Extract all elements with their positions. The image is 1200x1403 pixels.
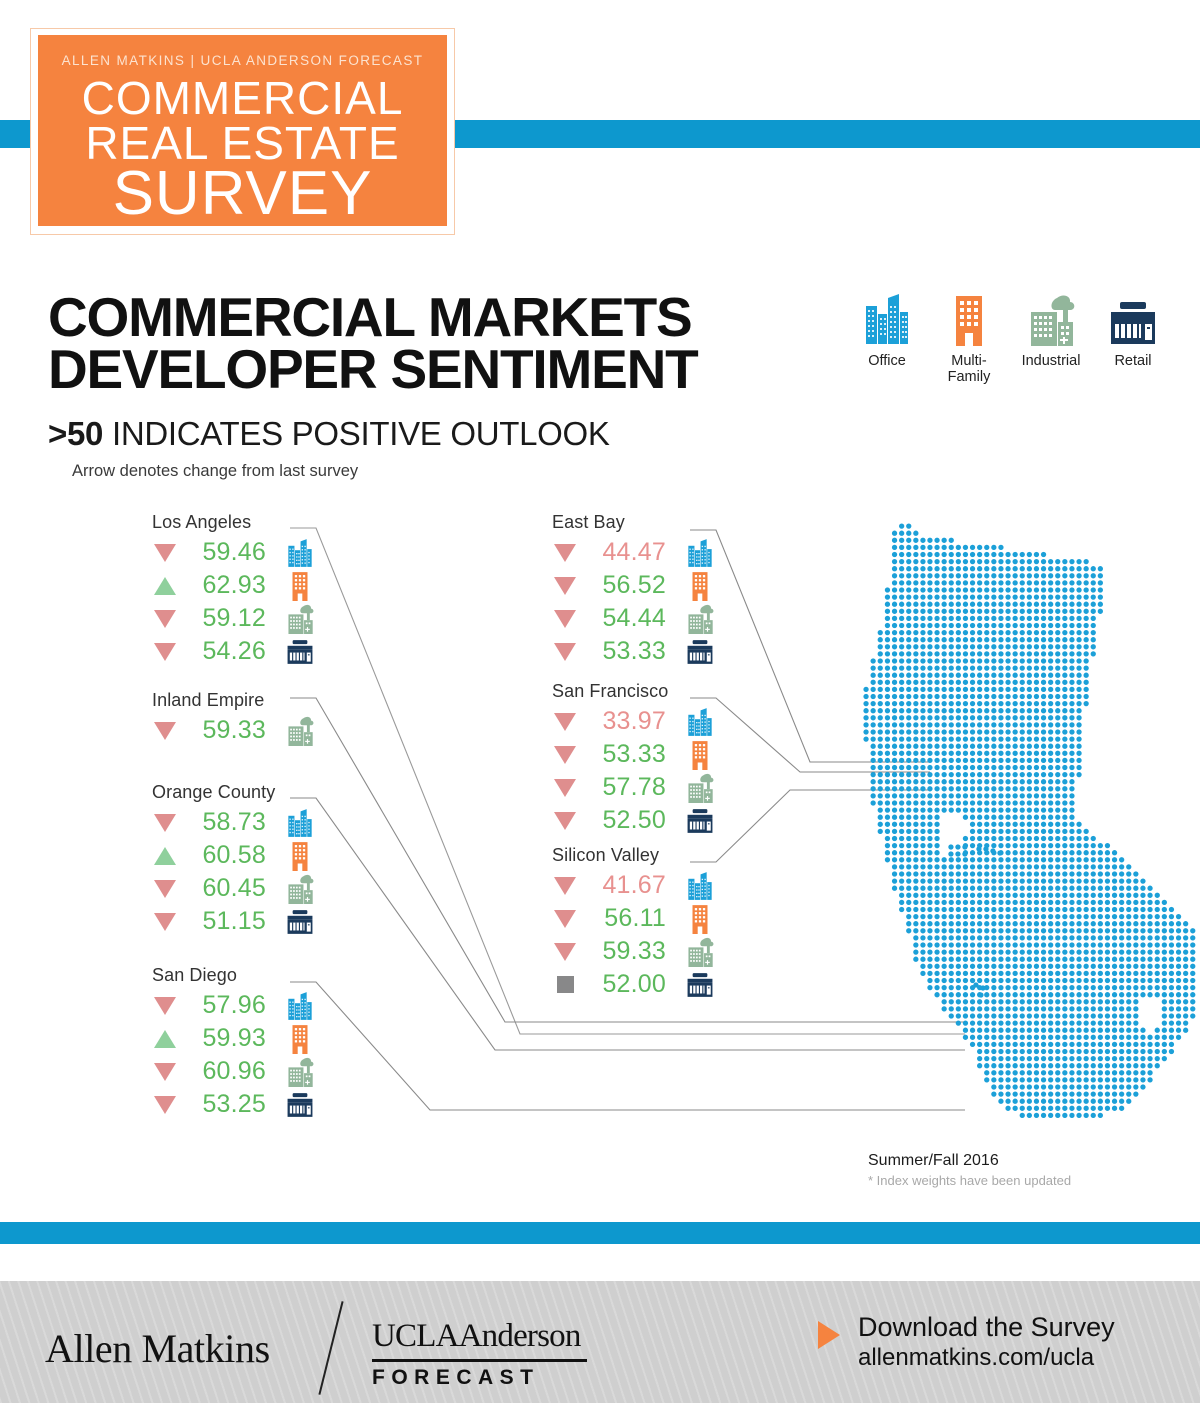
trend-marker xyxy=(154,913,176,931)
region-name: San Diego xyxy=(152,965,323,986)
legend-item-multifamily: Multi- Family xyxy=(928,288,1010,385)
trend-down-arrow-icon xyxy=(552,812,578,830)
sentiment-row: 54.26 xyxy=(152,635,323,668)
sentiment-row: 52.00 xyxy=(552,968,723,1001)
sentiment-row: 54.44 xyxy=(552,602,723,635)
retail-store-icon xyxy=(266,639,323,665)
sentiment-value: 58.73 xyxy=(178,808,266,837)
sentiment-row: 57.78 xyxy=(552,771,723,804)
trend-down-arrow-icon xyxy=(152,1063,178,1081)
industrial-factory-icon xyxy=(666,604,723,634)
trend-marker xyxy=(554,643,576,661)
trend-down-arrow-icon xyxy=(152,814,178,832)
trend-down-arrow-icon xyxy=(152,1096,178,1114)
trend-marker xyxy=(554,577,576,595)
region-block-san-francisco: San Francisco 33.9753.3357.7852.50 xyxy=(552,681,723,837)
sentiment-value: 57.96 xyxy=(178,991,266,1020)
trend-marker xyxy=(554,713,576,731)
ucla-anderson-forecast-logo[interactable]: UCLAAnderson FORECAST xyxy=(372,1318,587,1390)
trend-marker xyxy=(154,643,176,661)
office-building-icon xyxy=(666,538,723,568)
sentiment-row: 59.33 xyxy=(152,714,323,747)
survey-period: Summer/Fall 2016 xyxy=(868,1152,1071,1170)
region-block-orange-county: Orange County 58.7360.5860.4551.15 xyxy=(152,782,323,938)
sentiment-value: 53.25 xyxy=(178,1090,266,1119)
sector-legend: Office Multi- Family xyxy=(846,288,1176,398)
office-building-icon xyxy=(266,538,323,568)
sentiment-value: 59.46 xyxy=(178,538,266,567)
trend-marker xyxy=(154,722,176,740)
download-label: Download the Survey xyxy=(858,1312,1115,1344)
page-title: COMMERCIAL MARKETS DEVELOPER SENTIMENT >… xyxy=(48,292,848,481)
retail-store-icon xyxy=(666,639,723,665)
multifamily-building-icon xyxy=(928,288,1010,346)
trend-down-arrow-icon xyxy=(152,913,178,931)
sentiment-row: 33.97 xyxy=(552,705,723,738)
legend-label-multifamily-l2: Family xyxy=(928,369,1010,385)
multifamily-building-icon xyxy=(666,740,723,770)
sentiment-row: 59.33 xyxy=(552,935,723,968)
trend-marker xyxy=(154,1096,176,1114)
trend-marker xyxy=(154,880,176,898)
trend-marker xyxy=(154,1063,176,1081)
region-name: East Bay xyxy=(552,512,723,533)
sentiment-value: 52.00 xyxy=(578,970,666,999)
retail-store-icon xyxy=(266,1092,323,1118)
sentiment-value: 54.44 xyxy=(578,604,666,633)
multifamily-building-icon xyxy=(266,841,323,871)
ucla-rule xyxy=(372,1359,587,1362)
trend-down-arrow-icon xyxy=(552,610,578,628)
sentiment-row: 53.25 xyxy=(152,1088,323,1121)
trend-marker xyxy=(554,610,576,628)
trend-down-arrow-icon xyxy=(152,997,178,1015)
download-url: allenmatkins.com/ucla xyxy=(858,1344,1115,1372)
multifamily-building-icon xyxy=(266,571,323,601)
trend-down-arrow-icon xyxy=(152,643,178,661)
region-block-los-angeles: Los Angeles 59.4662.9359.1254.26 xyxy=(152,512,323,668)
trend-up-arrow-icon xyxy=(152,847,178,865)
industrial-factory-icon xyxy=(666,937,723,967)
sentiment-value: 44.47 xyxy=(578,538,666,567)
sentiment-row: 53.33 xyxy=(552,635,723,668)
sentiment-value: 33.97 xyxy=(578,707,666,736)
date-note: Summer/Fall 2016 * Index weights have be… xyxy=(868,1152,1071,1188)
logo-kicker: ALLEN MATKINS | UCLA ANDERSON FORECAST xyxy=(38,53,447,68)
sentiment-value: 59.93 xyxy=(178,1024,266,1053)
industrial-factory-icon xyxy=(666,773,723,803)
region-name: Los Angeles xyxy=(152,512,323,533)
california-dot-map xyxy=(855,515,1200,1125)
sentiment-row: 60.96 xyxy=(152,1055,323,1088)
office-building-icon xyxy=(846,288,928,346)
trend-down-arrow-icon xyxy=(552,544,578,562)
survey-footnote: * Index weights have been updated xyxy=(868,1173,1071,1188)
ucla-anderson-text: UCLAAnderson xyxy=(372,1318,587,1355)
sentiment-value: 53.33 xyxy=(578,637,666,666)
region-block-san-diego: San Diego 57.9659.9360.9653.25 xyxy=(152,965,323,1121)
sentiment-row: 60.58 xyxy=(152,839,323,872)
trend-marker xyxy=(554,746,576,764)
sentiment-row: 51.15 xyxy=(152,905,323,938)
trend-marker xyxy=(554,779,576,797)
sentiment-value: 41.67 xyxy=(578,871,666,900)
retail-store-icon xyxy=(1092,288,1174,346)
footer-blue-rule xyxy=(0,1222,1200,1244)
forecast-text: FORECAST xyxy=(372,1366,587,1390)
sentiment-value: 60.58 xyxy=(178,841,266,870)
california-dots xyxy=(863,523,1195,1118)
multifamily-building-icon xyxy=(666,904,723,934)
trend-down-arrow-icon xyxy=(152,544,178,562)
region-name: Inland Empire xyxy=(152,690,323,711)
office-building-icon xyxy=(266,991,323,1021)
trend-marker xyxy=(554,943,576,961)
industrial-factory-icon xyxy=(266,716,323,746)
trend-up-arrow-icon xyxy=(152,1030,178,1048)
trend-down-arrow-icon xyxy=(152,722,178,740)
trend-marker xyxy=(554,812,576,830)
title-line-2: DEVELOPER SENTIMENT xyxy=(48,344,848,396)
trend-marker xyxy=(557,976,574,993)
region-name: Silicon Valley xyxy=(552,845,723,866)
sentiment-row: 58.73 xyxy=(152,806,323,839)
sentiment-value: 59.12 xyxy=(178,604,266,633)
trend-marker xyxy=(154,610,176,628)
sentiment-value: 56.52 xyxy=(578,571,666,600)
region-block-silicon-valley: Silicon Valley 41.6756.1159.3352.00 xyxy=(552,845,723,1001)
trend-marker xyxy=(554,877,576,895)
industrial-factory-icon xyxy=(266,874,323,904)
trend-marker xyxy=(154,814,176,832)
retail-store-icon xyxy=(266,909,323,935)
region-block-inland-empire: Inland Empire 59.33 xyxy=(152,690,323,747)
trend-down-arrow-icon xyxy=(152,610,178,628)
region-name: San Francisco xyxy=(552,681,723,702)
trend-down-arrow-icon xyxy=(552,577,578,595)
trend-down-arrow-icon xyxy=(152,880,178,898)
sentiment-value: 52.50 xyxy=(578,806,666,835)
sentiment-value: 62.93 xyxy=(178,571,266,600)
sentiment-row: 53.33 xyxy=(552,738,723,771)
trend-marker xyxy=(154,544,176,562)
trend-marker xyxy=(154,1030,176,1048)
trend-down-arrow-icon xyxy=(552,643,578,661)
trend-marker xyxy=(554,544,576,562)
survey-logo-box: ALLEN MATKINS | UCLA ANDERSON FORECAST C… xyxy=(38,35,447,226)
legend-label-retail: Retail xyxy=(1092,353,1174,369)
trend-down-arrow-icon xyxy=(552,943,578,961)
region-name: Orange County xyxy=(152,782,323,803)
office-building-icon xyxy=(266,808,323,838)
office-building-icon xyxy=(666,707,723,737)
trend-down-arrow-icon xyxy=(552,877,578,895)
subtitle-threshold: >50 xyxy=(48,415,103,452)
sentiment-row: 57.96 xyxy=(152,989,323,1022)
sentiment-row: 41.67 xyxy=(552,869,723,902)
sentiment-value: 57.78 xyxy=(578,773,666,802)
legend-item-retail: Retail xyxy=(1092,288,1174,369)
legend-item-industrial: Industrial xyxy=(1010,288,1092,369)
sentiment-row: 60.45 xyxy=(152,872,323,905)
sentiment-row: 44.47 xyxy=(552,536,723,569)
sentiment-row: 59.46 xyxy=(152,536,323,569)
retail-store-icon xyxy=(666,972,723,998)
logo-line-1: COMMERCIAL xyxy=(38,75,447,121)
trend-down-arrow-icon xyxy=(552,910,578,928)
legend-item-office: Office xyxy=(846,288,928,369)
download-survey-link[interactable]: Download the Survey allenmatkins.com/ucl… xyxy=(818,1312,1115,1372)
trend-marker xyxy=(154,577,176,595)
subtitle-text: INDICATES POSITIVE OUTLOOK xyxy=(103,415,610,452)
logo-line-3: SURVEY xyxy=(38,163,447,225)
sentiment-value: 60.45 xyxy=(178,874,266,903)
trend-down-arrow-icon xyxy=(552,746,578,764)
sentiment-row: 56.11 xyxy=(552,902,723,935)
trend-up-arrow-icon xyxy=(152,577,178,595)
sentiment-value: 51.15 xyxy=(178,907,266,936)
retail-store-icon xyxy=(666,808,723,834)
sentiment-row: 56.52 xyxy=(552,569,723,602)
allen-matkins-logo[interactable]: Allen Matkins xyxy=(45,1325,270,1372)
trend-marker xyxy=(154,847,176,865)
legend-label-office: Office xyxy=(846,353,928,369)
play-triangle-icon xyxy=(818,1321,840,1349)
sentiment-row: 59.12 xyxy=(152,602,323,635)
trend-down-arrow-icon xyxy=(552,713,578,731)
multifamily-building-icon xyxy=(666,571,723,601)
sentiment-row: 52.50 xyxy=(552,804,723,837)
sentiment-value: 53.33 xyxy=(578,740,666,769)
survey-logo-frame: ALLEN MATKINS | UCLA ANDERSON FORECAST C… xyxy=(30,28,455,235)
subtitle: >50 INDICATES POSITIVE OUTLOOK xyxy=(48,415,848,453)
sentiment-value: 54.26 xyxy=(178,637,266,666)
header-band: ALLEN MATKINS | UCLA ANDERSON FORECAST C… xyxy=(0,0,1200,250)
industrial-factory-icon xyxy=(266,604,323,634)
trend-down-arrow-icon xyxy=(552,779,578,797)
office-building-icon xyxy=(666,871,723,901)
trend-marker xyxy=(154,997,176,1015)
industrial-factory-icon xyxy=(266,1057,323,1087)
legend-label-multifamily: Multi- Family xyxy=(928,353,1010,385)
legend-label-multifamily-l1: Multi- xyxy=(928,353,1010,369)
title-line-1: COMMERCIAL MARKETS xyxy=(48,292,848,344)
sentiment-value: 60.96 xyxy=(178,1057,266,1086)
sentiment-value: 59.33 xyxy=(178,716,266,745)
industrial-factory-icon xyxy=(1010,288,1092,346)
region-block-east-bay: East Bay 44.4756.5254.4453.33 xyxy=(552,512,723,668)
trend-flat-square-icon xyxy=(552,976,578,993)
sentiment-row: 62.93 xyxy=(152,569,323,602)
sentiment-value: 59.33 xyxy=(578,937,666,966)
sentiment-value: 56.11 xyxy=(578,904,666,933)
multifamily-building-icon xyxy=(266,1024,323,1054)
legend-label-industrial: Industrial xyxy=(1010,353,1092,369)
sentiment-row: 59.93 xyxy=(152,1022,323,1055)
arrow-note: Arrow denotes change from last survey xyxy=(72,462,848,481)
trend-marker xyxy=(554,910,576,928)
